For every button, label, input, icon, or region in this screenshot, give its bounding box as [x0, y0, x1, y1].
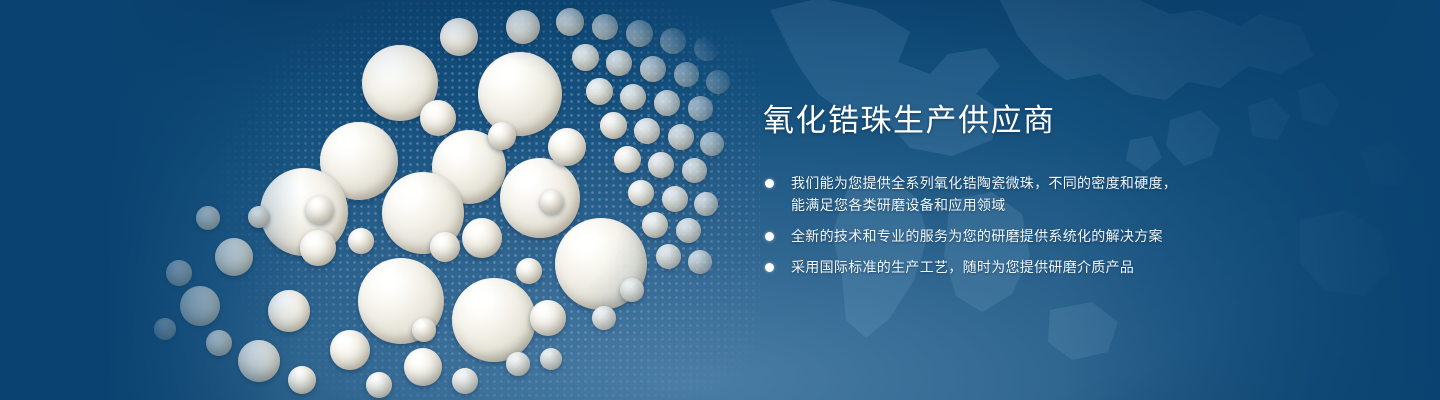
banner-copy: 氧化锆珠生产供应商 我们能为您提供全系列氧化锆陶瓷微珠，不同的密度和硬度， 能满… — [763, 104, 1233, 287]
bullet-item-2: 全新的技术和专业的服务为您的研磨提供系统化的解决方案 — [763, 225, 1233, 247]
bullet-item-3: 采用国际标准的生产工艺，随时为您提供研磨介质产品 — [763, 256, 1233, 278]
banner-bullet-list: 我们能为您提供全系列氧化锆陶瓷微珠，不同的密度和硬度， 能满足您各类研磨设备和应… — [763, 172, 1233, 278]
left-edge-fade — [0, 0, 300, 400]
bullet-line: 能满足您各类研磨设备和应用领域 — [791, 194, 1233, 216]
banner-title: 氧化锆珠生产供应商 — [763, 104, 1233, 138]
bullet-line: 全新的技术和专业的服务为您的研磨提供系统化的解决方案 — [791, 225, 1233, 247]
bullet-line: 我们能为您提供全系列氧化锆陶瓷微珠，不同的密度和硬度， — [791, 172, 1233, 194]
bullet-dot-icon — [765, 232, 774, 241]
bullet-dot-icon — [765, 179, 774, 188]
hero-banner: 氧化锆珠生产供应商 我们能为您提供全系列氧化锆陶瓷微珠，不同的密度和硬度， 能满… — [0, 0, 1440, 400]
bullet-dot-icon — [765, 263, 774, 272]
bullet-item-1: 我们能为您提供全系列氧化锆陶瓷微珠，不同的密度和硬度， 能满足您各类研磨设备和应… — [763, 172, 1233, 216]
bullet-line: 采用国际标准的生产工艺，随时为您提供研磨介质产品 — [791, 256, 1233, 278]
